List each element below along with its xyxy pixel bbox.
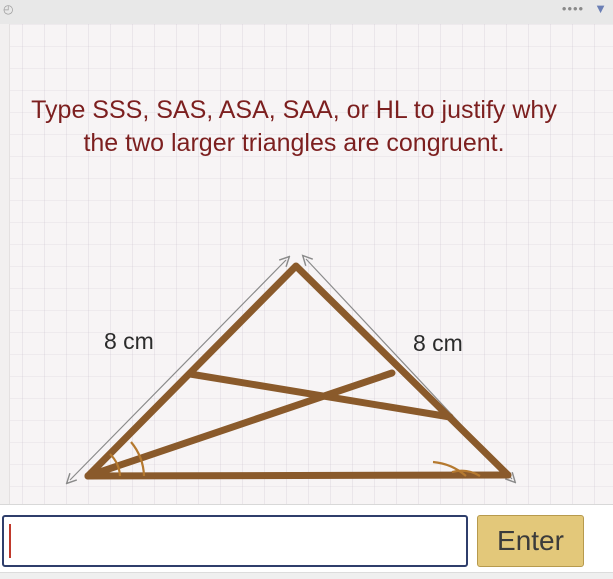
- chevron-down-icon[interactable]: ▼: [594, 1, 607, 17]
- question-prompt: Type SSS, SAS, ASA, SAA, or HL to justif…: [14, 94, 574, 160]
- spinner-icon: ◴: [3, 2, 13, 16]
- text-caret: [9, 524, 11, 558]
- worksheet-app: ◴ •••• ▼ Type SSS, SAS, ASA, SAA, or HL …: [0, 0, 613, 579]
- cevian-right-to-left: [88, 373, 392, 476]
- triangle-diagram-svg: [0, 204, 613, 504]
- left-side-length-label: 8 cm: [104, 328, 154, 355]
- question-sheet: Type SSS, SAS, ASA, SAA, or HL to justif…: [0, 24, 613, 504]
- browser-topbar: ◴ •••• ▼: [0, 0, 613, 25]
- triangle-base: [88, 475, 508, 476]
- topbar-right-controls: •••• ▼: [562, 1, 607, 17]
- enter-button[interactable]: Enter: [477, 515, 584, 567]
- outer-triangle-sides: [88, 266, 508, 476]
- right-side-length-label: 8 cm: [413, 330, 463, 357]
- more-options-icon[interactable]: ••••: [562, 1, 584, 17]
- answer-input[interactable]: [2, 515, 468, 567]
- answer-bar: Enter: [0, 504, 613, 579]
- bottom-edge: [0, 572, 613, 579]
- geometry-figure: 8 cm 8 cm: [0, 204, 613, 504]
